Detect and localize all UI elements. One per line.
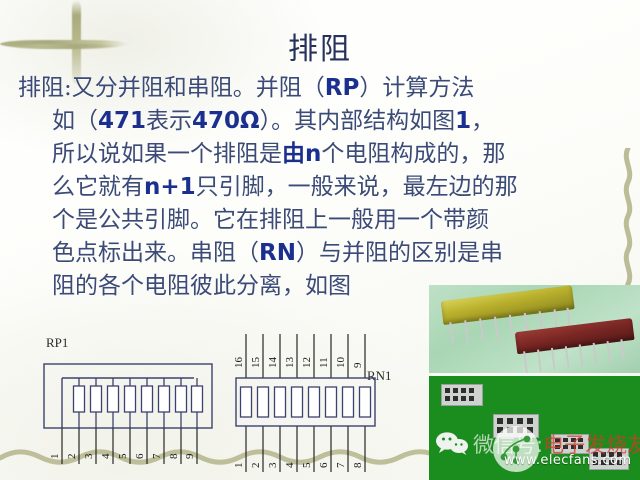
body-text-segment: ， — [471, 108, 494, 134]
rp1-pin-label: 4 — [100, 453, 112, 459]
body-text-segment: 如（ — [52, 108, 98, 134]
rn1-bottom-pin-label: 3 — [267, 462, 279, 468]
body-text-segment: 么它就有 — [52, 174, 144, 200]
rn1-top-pin-label: 9 — [352, 362, 364, 368]
wechat-icon — [435, 431, 469, 455]
rn1-bottom-pin-label: 8 — [352, 462, 364, 468]
highlighted-term: 471 — [98, 108, 146, 134]
highlighted-term: 470Ω — [192, 108, 260, 134]
body-text: 排阻:又分并阻和串阻。并阻（RP）计算方法如（471表示470Ω）。其内部结构如… — [18, 72, 622, 303]
rn1-bottom-pin-label: 1 — [233, 463, 245, 469]
rn1-top-pin-label: 16 — [233, 357, 245, 369]
highlighted-term: 由n — [282, 141, 321, 167]
body-text-segment: 个是公共引脚。它在排阻上一般用一个带颜 — [52, 207, 489, 233]
body-line-6: 色点标出来。串阻（RN）与并阻的区别是串 — [18, 237, 622, 270]
rn1-bottom-pin-label: 2 — [250, 463, 262, 469]
highlighted-term: 1 — [455, 108, 471, 134]
body-text-segment: 色点标出来。串阻（ — [52, 240, 259, 266]
page-title: 排阻 — [0, 24, 640, 68]
sip-resistor-network-photo — [429, 285, 640, 373]
body-line-4: 么它就有n+1只引脚，一般来说，最左边的那 — [18, 171, 622, 204]
slide-canvas: 排阻 排阻:又分并阻和串阻。并阻（RP）计算方法如（471表示470Ω）。其内部… — [0, 0, 640, 480]
highlighted-term: RN — [259, 240, 296, 266]
body-text-segment: 个电阻构成的，那 — [321, 141, 505, 167]
rp1-pin-label: 1 — [49, 454, 61, 460]
rp1-pin-label: 7 — [151, 453, 163, 459]
body-text-segment: ）。其内部结构如图 — [260, 108, 456, 134]
rn1-top-pin-label: 11 — [318, 357, 330, 368]
body-text-segment: ）计算方法 — [359, 75, 474, 101]
smd-chip — [441, 384, 483, 406]
rn1-top-pin-label: 15 — [250, 357, 262, 369]
rp1-pin-label: 2 — [66, 454, 78, 460]
rp1-pin-label: 5 — [117, 453, 129, 459]
rn1-top-pin-label: 12 — [301, 357, 313, 368]
rn1-bottom-pin-label: 7 — [335, 462, 347, 468]
body-text-segment: 表示 — [146, 108, 192, 134]
rp1-pin-label: 3 — [83, 453, 95, 459]
rp1-label: RP1 — [46, 335, 68, 351]
body-text-segment: 阻的各个电阻彼此分离，如图 — [52, 273, 351, 299]
rp1-schematic: 123456789 — [40, 360, 220, 478]
highlighted-term: n+1 — [144, 174, 196, 200]
rn1-top-pin-label: 14 — [267, 357, 279, 369]
body-line-5: 个是公共引脚。它在排阻上一般用一个带颜 — [18, 204, 622, 237]
rn1-top-pin-label: 13 — [284, 357, 296, 369]
body-line-1: 排阻:又分并阻和串阻。并阻（RP）计算方法 — [18, 72, 622, 105]
rp1-pin-label: 9 — [184, 453, 196, 459]
body-text-segment: 所以说如果一个排阻是 — [52, 141, 282, 167]
smd-resistor-array-photo: 微信号:电子发烧友 www.elecfans.com — [429, 376, 640, 480]
rp1-pin-label: 8 — [168, 453, 180, 459]
body-text-segment: ）与并阻的区别是串 — [296, 240, 503, 266]
wavy-line-right-icon — [620, 148, 636, 293]
rn1-bottom-pin-label: 4 — [284, 462, 296, 468]
rn1-top-pin-label: 10 — [335, 357, 347, 369]
watermark-url: www.elecfans.com — [504, 453, 631, 468]
highlighted-term: RP — [325, 75, 360, 101]
body-line-2: 如（471表示470Ω）。其内部结构如图1， — [18, 105, 622, 138]
rn1-schematic: 161514131211109 12345678 — [232, 330, 382, 480]
rn1-bottom-pin-label: 5 — [301, 462, 313, 468]
body-text-segment: 只引脚，一般来说，最左边的那 — [196, 174, 518, 200]
body-text-segment: 排阻:又分并阻和串阻。并阻（ — [18, 75, 325, 101]
rp1-pin-label: 6 — [134, 453, 146, 459]
rn1-bottom-pin-label: 6 — [318, 462, 330, 468]
body-line-3: 所以说如果一个排阻是由n个电阻构成的，那 — [18, 138, 622, 171]
